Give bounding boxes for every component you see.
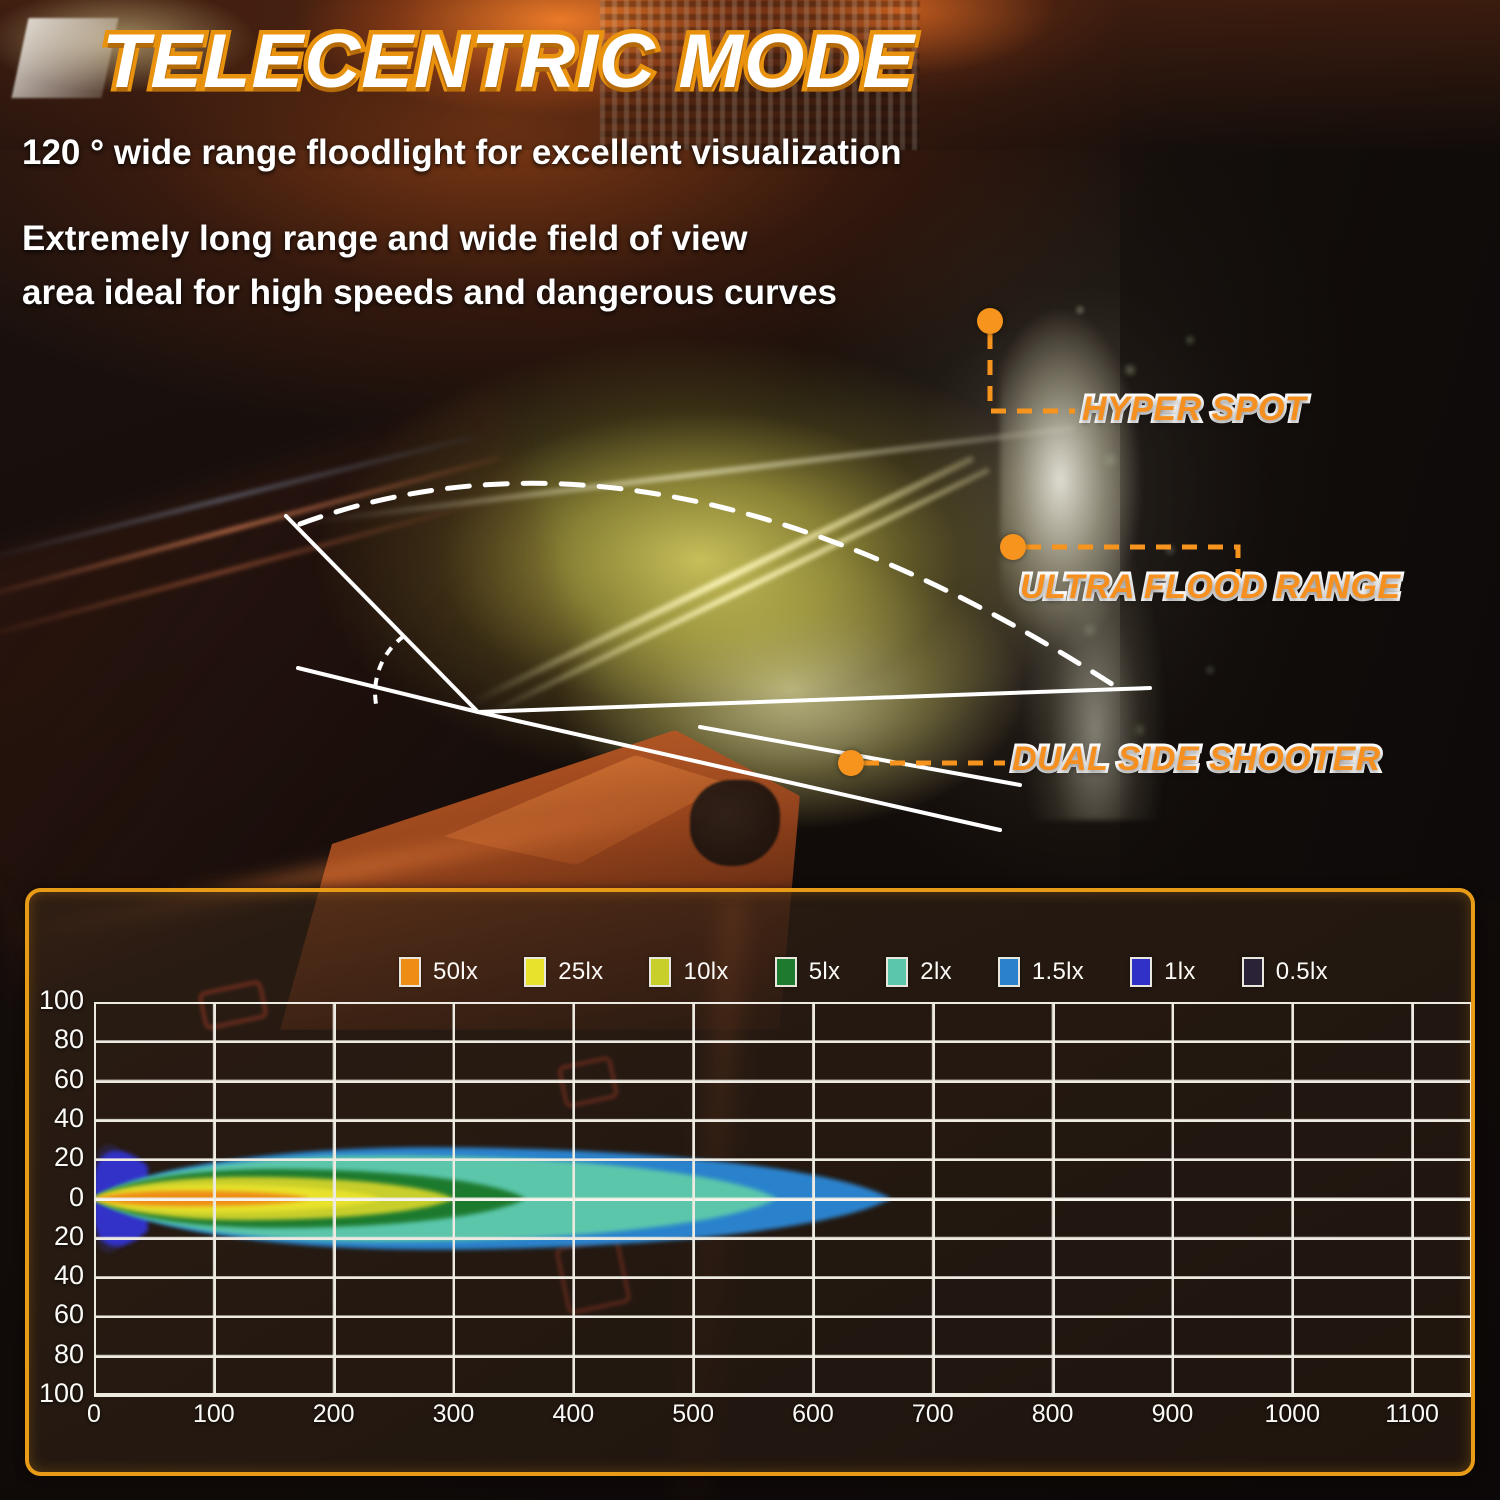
description-line-2: area ideal for high speeds and dangerous…	[22, 266, 837, 320]
legend-swatch	[1130, 957, 1152, 987]
y-axis-tick-label: 40	[25, 1103, 84, 1134]
x-axis-tick-label: 800	[1003, 1400, 1103, 1429]
x-axis-tick-label: 900	[1122, 1400, 1222, 1429]
y-axis-tick-label: 80	[25, 1024, 84, 1055]
chart-legend: 50lx25lx10lx5lx2lx1.5lx1lx0.5lx	[399, 952, 1475, 992]
grid-line-horizontal	[94, 1159, 1472, 1161]
legend-swatch	[775, 957, 797, 987]
x-axis-tick-label: 100	[164, 1400, 264, 1429]
x-axis-tick-label: 300	[403, 1400, 503, 1429]
legend-label: 10lx	[683, 958, 728, 986]
x-axis-tick-label: 0	[44, 1400, 144, 1429]
description-line-1: Extremely long range and wide field of v…	[22, 212, 747, 266]
legend-item: 50lx	[399, 957, 478, 987]
grid-line-vertical	[1412, 1002, 1414, 1395]
y-axis-tick-label: 60	[25, 1299, 84, 1330]
grid-line-vertical	[1053, 1002, 1055, 1395]
grid-line-vertical	[1292, 1002, 1294, 1395]
grid-line-horizontal	[94, 1081, 1472, 1083]
grid-line-vertical	[693, 1002, 695, 1395]
legend-swatch	[886, 957, 908, 987]
x-axis-tick-label: 600	[763, 1400, 863, 1429]
chart-plot-area: 1008060402002040608010001002003004005006…	[94, 1002, 1472, 1395]
x-axis-tick-label: 500	[643, 1400, 743, 1429]
page-title: TELECENTRIC MODE	[102, 18, 915, 105]
subtitle-line: 120 ° wide range floodlight for excellen…	[22, 133, 901, 173]
callout-label-ultra-flood-range: ULTRA FLOOD RANGE	[1020, 568, 1401, 607]
y-axis-tick-label: 80	[25, 1339, 84, 1370]
y-axis-tick-label: 60	[25, 1064, 84, 1095]
legend-label: 50lx	[433, 958, 478, 986]
y-axis-tick-label: 20	[25, 1221, 84, 1252]
legend-swatch	[399, 957, 421, 987]
legend-item: 10lx	[649, 957, 728, 987]
y-axis-tick-label: 0	[25, 1182, 84, 1213]
grid-line-vertical	[813, 1002, 815, 1395]
grid-line-horizontal	[94, 1002, 1472, 1004]
grid-line-vertical	[1172, 1002, 1174, 1395]
photometric-chart-panel: 50lx25lx10lx5lx2lx1.5lx1lx0.5lx 10080604…	[25, 888, 1475, 1476]
legend-label: 1.5lx	[1032, 958, 1084, 986]
grid-line-vertical	[933, 1002, 935, 1395]
callout-dot-dual-side-shooter	[838, 750, 864, 776]
grid-line-horizontal	[94, 1199, 1472, 1201]
grid-line-horizontal	[94, 1316, 1472, 1318]
grid-line-horizontal	[94, 1395, 1472, 1397]
roadside-foliage	[1050, 250, 1320, 810]
x-axis-tick-label: 1100	[1362, 1400, 1462, 1429]
legend-label: 0.5lx	[1276, 958, 1328, 986]
x-axis-tick-label: 200	[284, 1400, 384, 1429]
legend-label: 25lx	[558, 958, 603, 986]
legend-item: 25lx	[524, 957, 603, 987]
y-axis-tick-label: 40	[25, 1260, 84, 1291]
legend-item: 0.5lx	[1242, 957, 1328, 987]
x-axis-tick-label: 400	[523, 1400, 623, 1429]
legend-item: 5lx	[775, 957, 841, 987]
callout-label-hyper-spot: HYPER SPOT	[1082, 390, 1306, 429]
legend-swatch	[524, 957, 546, 987]
legend-swatch	[649, 957, 671, 987]
legend-label: 5lx	[809, 958, 841, 986]
callout-label-dual-side-shooter: DUAL SIDE SHOOTER	[1012, 740, 1381, 779]
grid-line-horizontal	[94, 1277, 1472, 1279]
grid-line-horizontal	[94, 1356, 1472, 1358]
grid-line-vertical	[214, 1002, 216, 1395]
callout-dot-ultra-flood-range	[1000, 534, 1026, 560]
legend-item: 1.5lx	[998, 957, 1084, 987]
grid-line-horizontal	[94, 1041, 1472, 1043]
grid-line-horizontal	[94, 1238, 1472, 1240]
x-axis-tick-label: 1000	[1242, 1400, 1342, 1429]
grid-line-vertical	[573, 1002, 575, 1395]
grid-line-vertical	[453, 1002, 455, 1395]
legend-item: 2lx	[886, 957, 952, 987]
y-axis-tick-label: 100	[25, 985, 84, 1016]
y-axis-tick-label: 20	[25, 1142, 84, 1173]
grid-line-horizontal	[94, 1120, 1472, 1122]
grid-line-vertical	[334, 1002, 336, 1395]
legend-label: 2lx	[920, 958, 952, 986]
x-axis-tick-label: 700	[883, 1400, 983, 1429]
legend-item: 1lx	[1130, 957, 1196, 987]
callout-dot-hyper-spot	[977, 308, 1003, 334]
legend-swatch	[998, 957, 1020, 987]
legend-label: 1lx	[1164, 958, 1196, 986]
legend-swatch	[1242, 957, 1264, 987]
